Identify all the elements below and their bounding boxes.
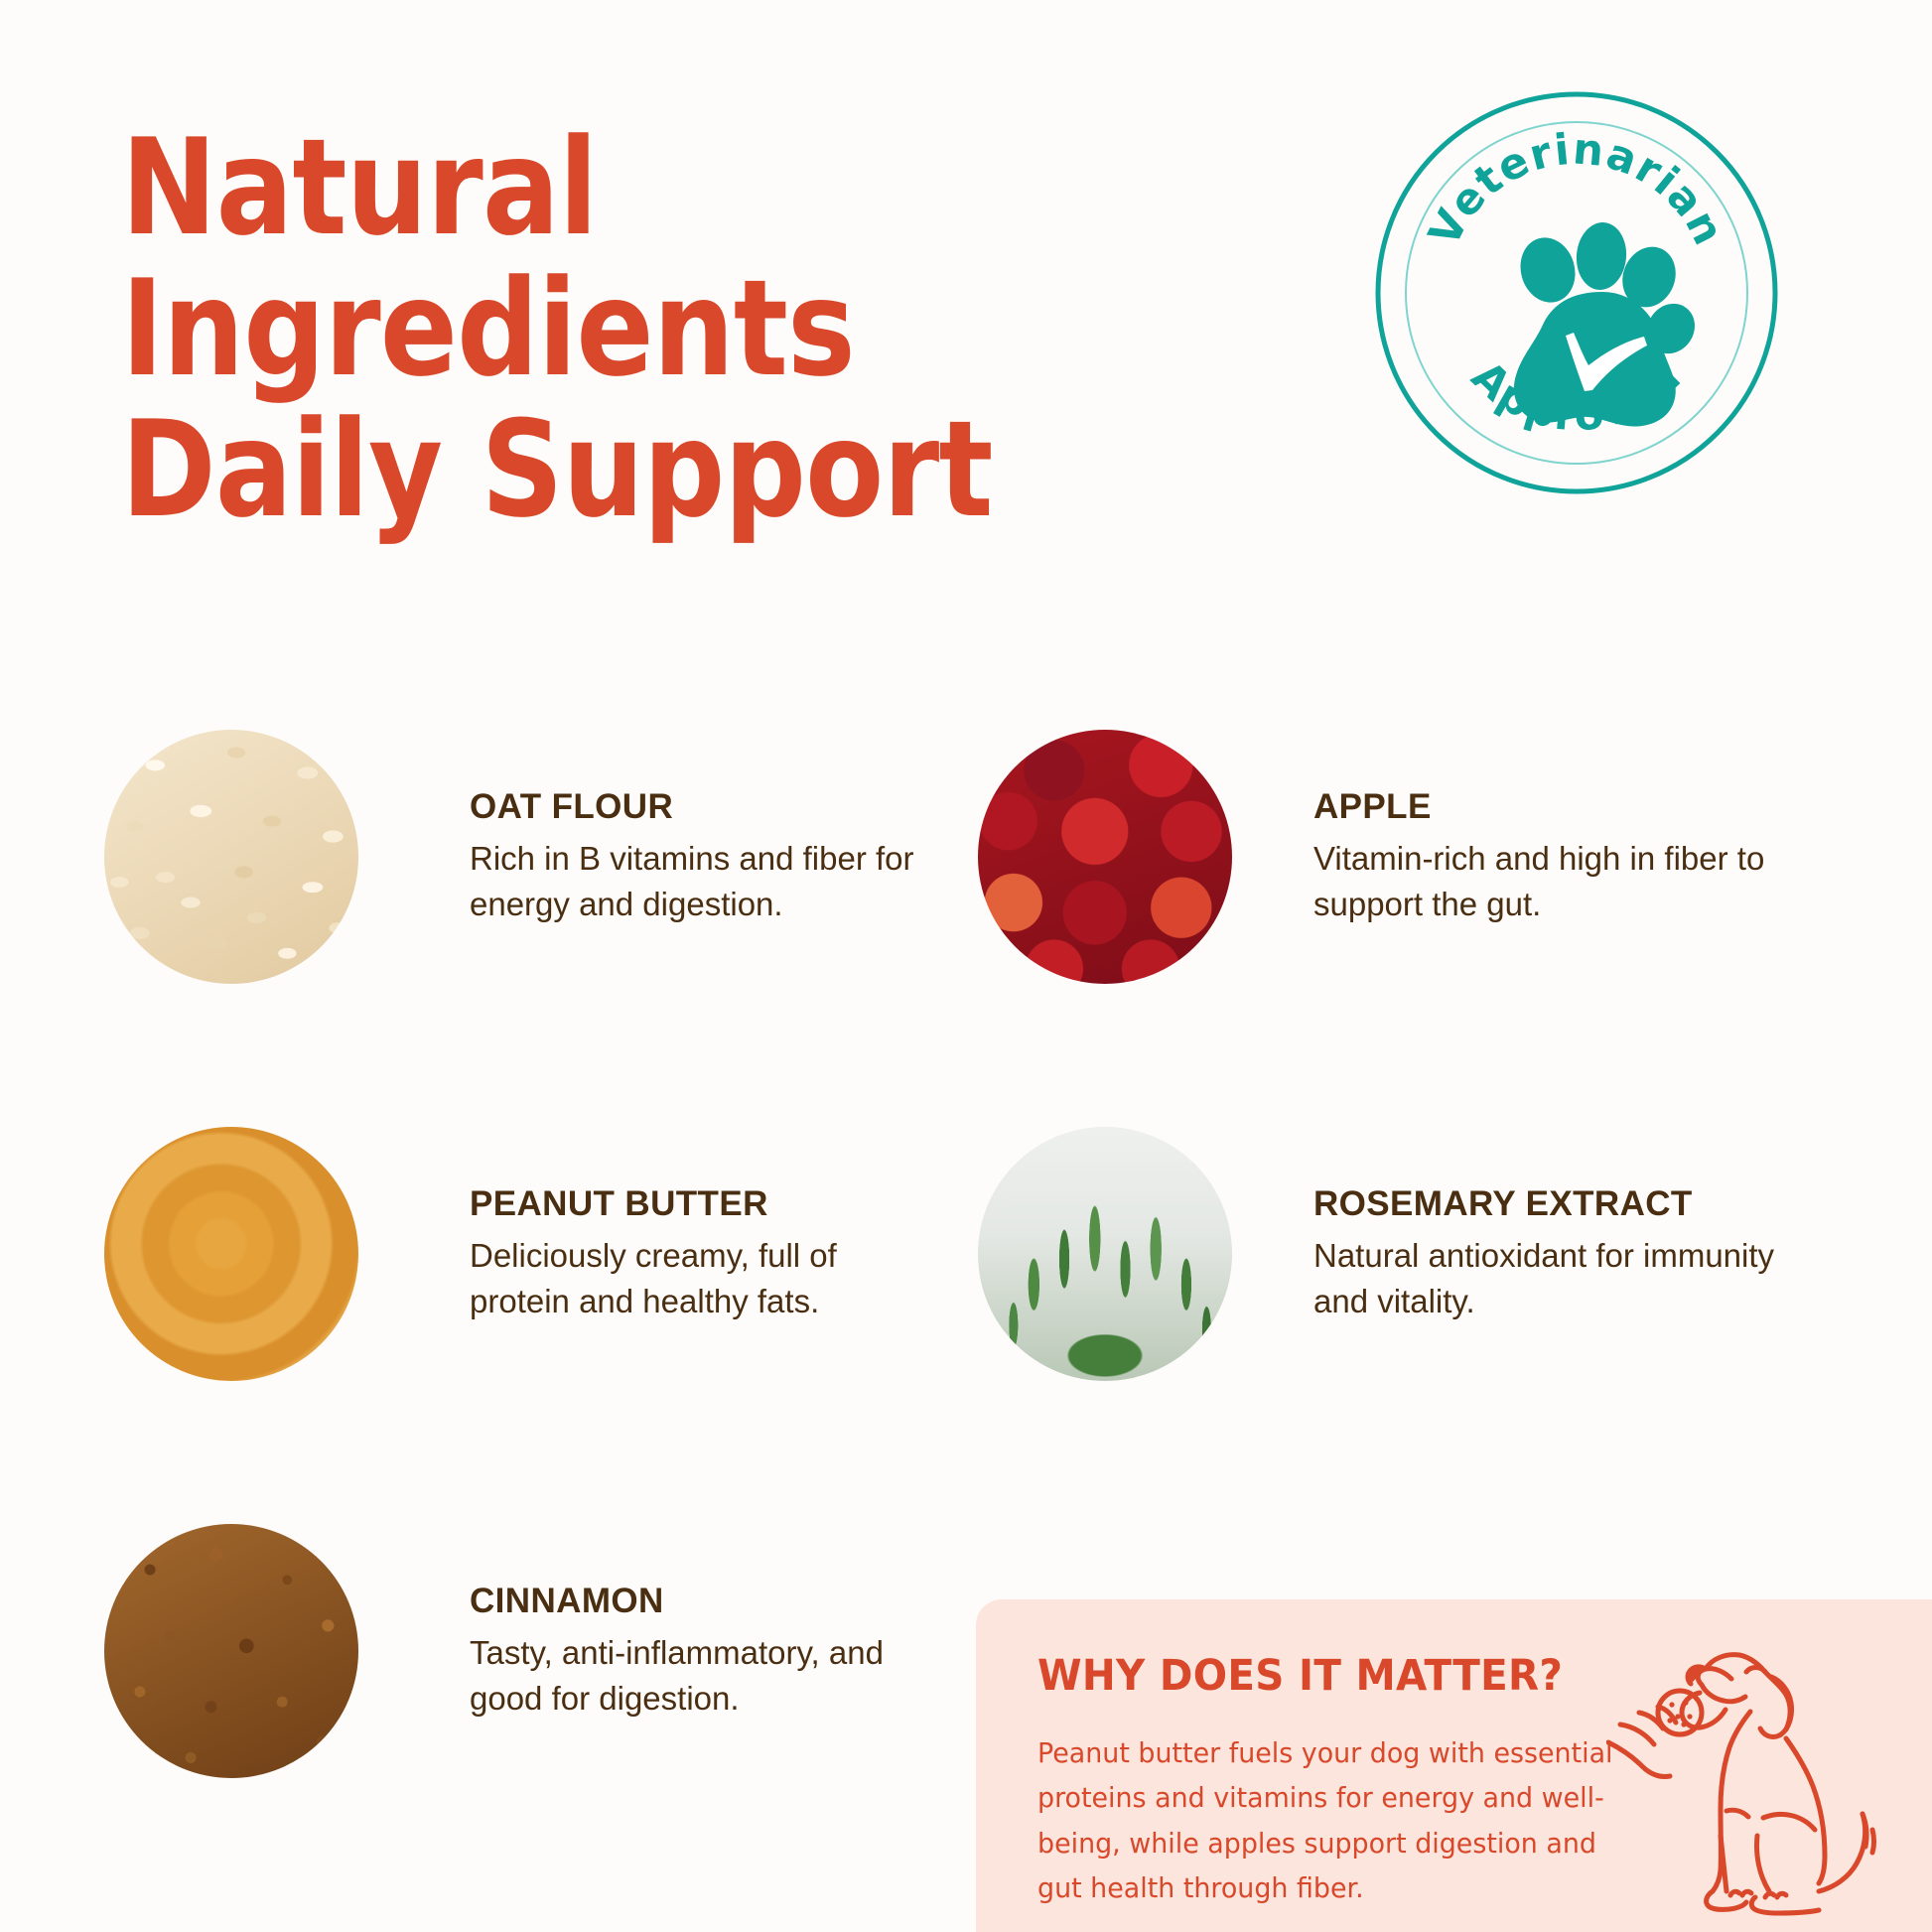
oat-flakes-photo (104, 730, 358, 984)
rosemary-sprigs-photo (978, 1127, 1232, 1381)
ingredient-description: Tasty, anti-inflammatory, and good for d… (470, 1630, 936, 1721)
ingredient-name: OAT FLOUR (470, 787, 936, 827)
ingredient-description: Natural antioxidant for immunity and vit… (1313, 1233, 1780, 1323)
why-panel-heading: WHY DOES IT MATTER? (1037, 1651, 1563, 1701)
title-line-3: Daily Support (121, 399, 1077, 540)
why-panel-body: Peanut butter fuels your dog with essent… (1037, 1730, 1647, 1910)
ingredient-description: Rich in B vitamins and fiber for energy … (470, 836, 936, 926)
sitting-dog-with-treat-icon (1606, 1607, 1914, 1925)
ingredient-item-oat-flour: OAT FLOUR Rich in B vitamins and fiber f… (104, 730, 936, 984)
ingredient-description: Vitamin-rich and high in fiber to suppor… (1313, 836, 1780, 926)
why-does-it-matter-panel: WHY DOES IT MATTER? Peanut butter fuels … (976, 1599, 1932, 1932)
ingredient-text-block: OAT FLOUR Rich in B vitamins and fiber f… (470, 787, 936, 926)
ingredient-name: CINNAMON (470, 1582, 936, 1621)
ingredient-item-cinnamon: CINNAMON Tasty, anti-inflammatory, and g… (104, 1524, 936, 1778)
veterinarian-approved-badge: Veterinarian Approved (1368, 84, 1785, 501)
ingredient-description: Deliciously creamy, full of protein and … (470, 1233, 936, 1323)
ingredient-item-peanut-butter: PEANUT BUTTER Deliciously creamy, full o… (104, 1127, 936, 1381)
badge-top-text: Veterinarian (1420, 124, 1733, 254)
ingredient-text-block: ROSEMARY EXTRACT Natural antioxidant for… (1313, 1184, 1780, 1323)
cinnamon-powder-photo (104, 1524, 358, 1778)
ingredient-name: PEANUT BUTTER (470, 1184, 936, 1224)
title-line-2: Ingredients (121, 258, 1077, 399)
ingredient-text-block: PEANUT BUTTER Deliciously creamy, full o… (470, 1184, 936, 1323)
ingredient-name: APPLE (1313, 787, 1780, 827)
red-apples-photo (978, 730, 1232, 984)
ingredient-text-block: APPLE Vitamin-rich and high in fiber to … (1313, 787, 1780, 926)
ingredient-item-rosemary-extract: ROSEMARY EXTRACT Natural antioxidant for… (978, 1127, 1780, 1381)
peanut-butter-photo (104, 1127, 358, 1381)
ingredient-text-block: CINNAMON Tasty, anti-inflammatory, and g… (470, 1582, 936, 1721)
page-title: Natural Ingredients Daily Support (121, 117, 1077, 540)
ingredient-name: ROSEMARY EXTRACT (1313, 1184, 1780, 1224)
title-line-1: Natural (121, 117, 1077, 258)
ingredient-item-apple: APPLE Vitamin-rich and high in fiber to … (978, 730, 1780, 984)
